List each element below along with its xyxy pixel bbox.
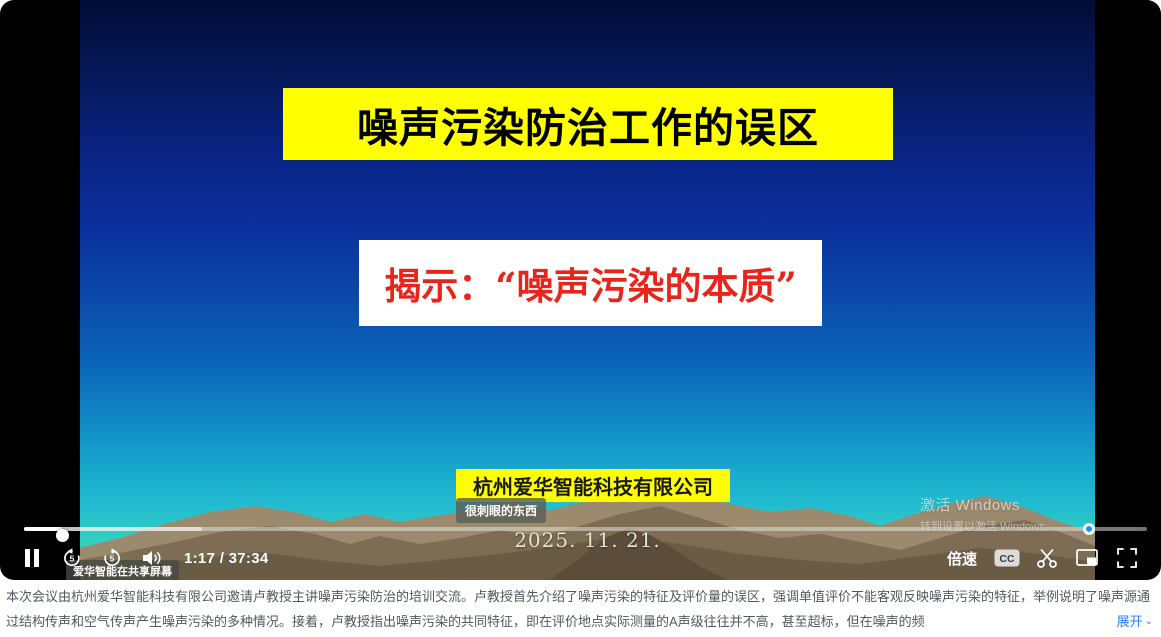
video-stage[interactable]: 噪声污染防治工作的误区 揭示：“噪声污染的本质” 杭州爱华智能科技有限公司 20… [80, 0, 1095, 580]
control-row[interactable]: 5 5 [0, 536, 1161, 580]
video-player[interactable]: 噪声污染防治工作的误区 揭示：“噪声污染的本质” 杭州爱华智能科技有限公司 20… [0, 0, 1161, 580]
pause-icon [24, 549, 40, 567]
svg-text:5: 5 [110, 554, 115, 564]
playback-speed-button[interactable]: 倍速 [937, 538, 987, 578]
picture-in-picture-icon [1076, 548, 1098, 568]
expand-description-button[interactable]: 展开 ⌄ [1101, 609, 1153, 634]
rewind-5s-button[interactable]: 5 [52, 538, 92, 578]
controls-left-group[interactable]: 5 5 [0, 536, 269, 580]
pause-button[interactable] [12, 538, 52, 578]
controls-right-group[interactable]: 倍速 CC [937, 536, 1161, 580]
expand-label: 展开 [1117, 609, 1143, 634]
player-controls[interactable]: 5 5 [0, 522, 1161, 580]
volume-icon [141, 548, 163, 568]
volume-handle[interactable] [1083, 523, 1095, 535]
cc-icon: CC [994, 549, 1020, 567]
chevron-down-icon: ⌄ [1145, 609, 1153, 634]
fullscreen-button[interactable] [1107, 538, 1147, 578]
slide-subtitle: 揭示：“噪声污染的本质” [359, 240, 822, 326]
captions-button[interactable]: CC [987, 538, 1027, 578]
fullscreen-icon [1117, 548, 1137, 568]
volume-slider[interactable] [1089, 527, 1147, 531]
clip-button[interactable] [1027, 538, 1067, 578]
video-description: 本次会议由杭州爱华智能科技有限公司邀请卢教授主讲噪声污染防治的培训交流。卢教授首… [0, 584, 1161, 637]
time-display: 1:17 / 37:34 [184, 550, 269, 567]
volume-button[interactable] [132, 538, 172, 578]
forward-5s-button[interactable]: 5 [92, 538, 132, 578]
danmaku-comment: 很刺眼的东西 [456, 498, 546, 523]
slide-title: 噪声污染防治工作的误区 [283, 88, 893, 160]
scissors-icon [1036, 547, 1058, 569]
description-text: 本次会议由杭州爱华智能科技有限公司邀请卢教授主讲噪声污染防治的培训交流。卢教授首… [6, 584, 1155, 634]
svg-text:CC: CC [999, 553, 1015, 565]
rewind-5-icon: 5 [61, 547, 83, 569]
svg-text:5: 5 [70, 554, 75, 564]
progress-played [24, 527, 62, 531]
forward-5-icon: 5 [101, 547, 123, 569]
progress-track[interactable] [24, 527, 1137, 531]
picture-in-picture-button[interactable] [1067, 538, 1107, 578]
progress-bar-row[interactable] [0, 522, 1161, 536]
